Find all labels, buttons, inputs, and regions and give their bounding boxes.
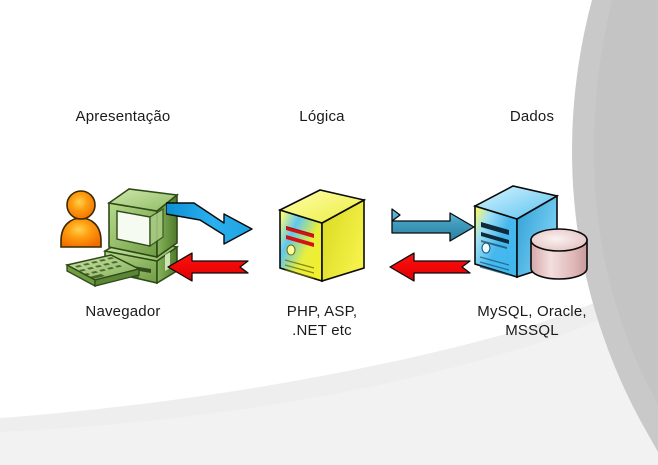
- tier-presentation-caption: Navegador: [33, 302, 213, 321]
- tier-data-figure: [442, 174, 622, 294]
- tier-data-caption: MySQL, Oracle, MSSQL: [442, 302, 622, 340]
- database-cylinder-icon: [531, 229, 587, 279]
- slide-canvas: Apresentação: [0, 0, 658, 465]
- tier-presentation-title: Apresentação: [33, 108, 213, 126]
- tier-logic-caption-line-2: .NET etc: [232, 321, 412, 340]
- user-icon: [61, 191, 101, 247]
- tier-data: Dados: [442, 108, 622, 340]
- tier-logic-figure: [232, 174, 412, 294]
- tier-data-caption-line-1: MySQL, Oracle,: [442, 302, 622, 321]
- database-server-group-icon: [467, 180, 597, 288]
- tier-logic-title: Lógica: [232, 108, 412, 126]
- tier-data-title: Dados: [442, 108, 622, 126]
- tier-logic: Lógica: [232, 108, 412, 340]
- tier-logic-caption-line-1: PHP, ASP,: [232, 302, 412, 321]
- logic-icon-group: [232, 174, 412, 294]
- tier-data-caption-line-2: MSSQL: [442, 321, 622, 340]
- data-icon-group: [442, 174, 622, 294]
- application-server-icon: [272, 182, 372, 287]
- tier-logic-caption: PHP, ASP, .NET etc: [232, 302, 412, 340]
